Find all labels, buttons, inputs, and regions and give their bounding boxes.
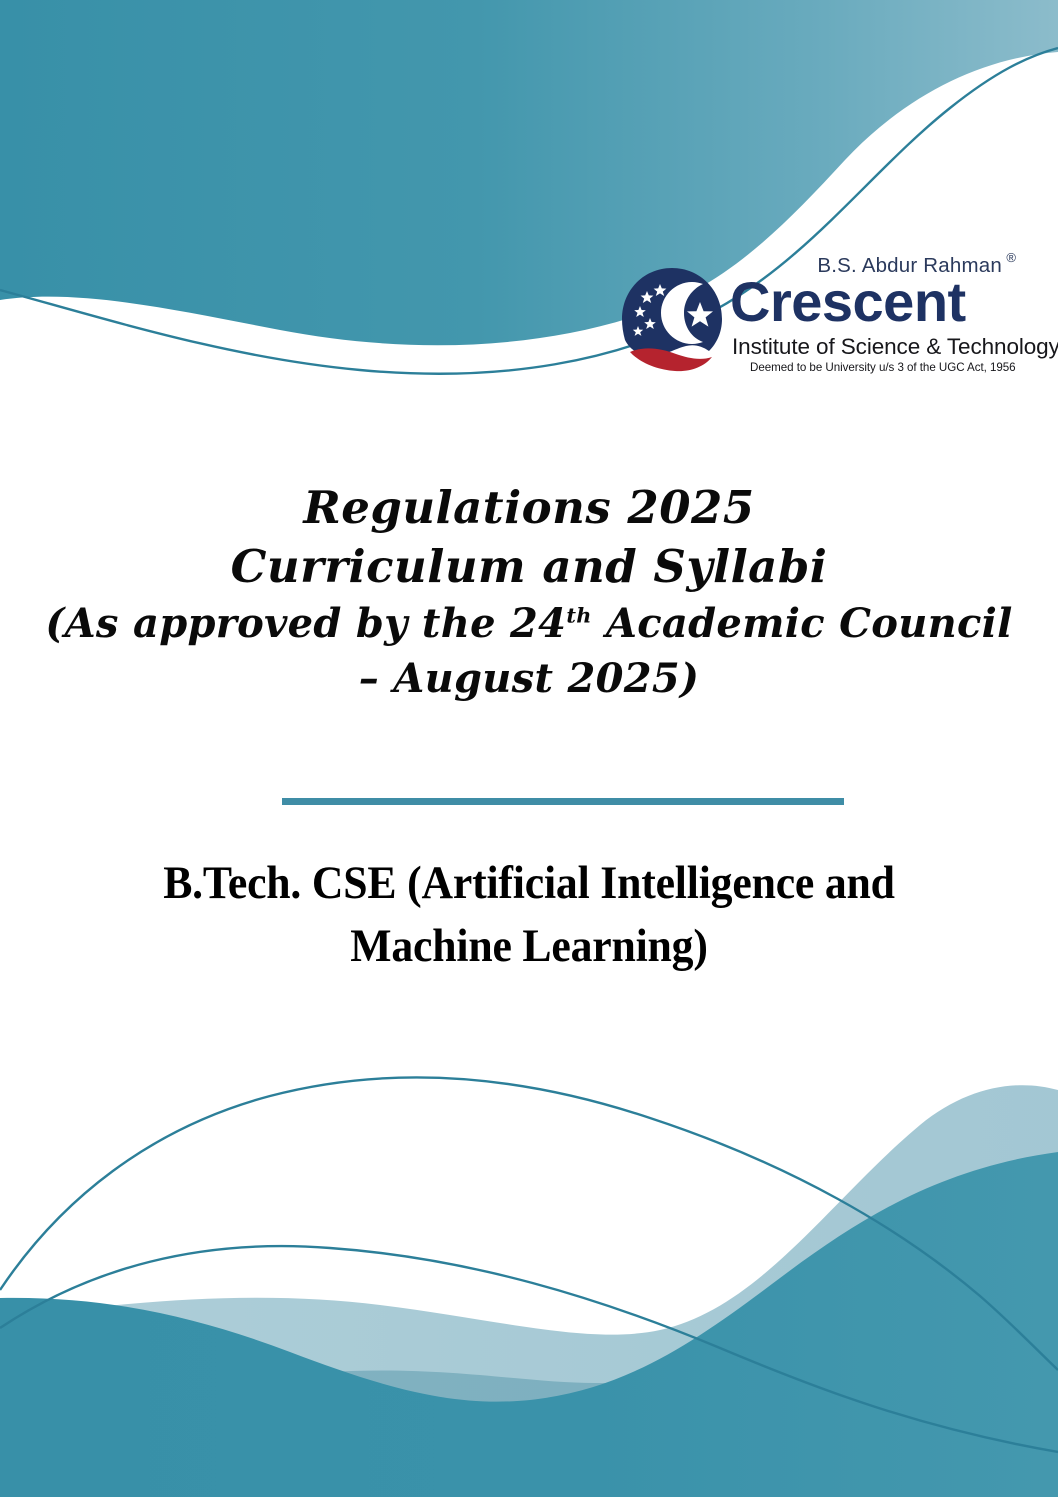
logo-sub-line: Institute of Science & Technology [732, 334, 1058, 360]
program-title-block: B.Tech. CSE (Artificial Intelligence and… [84, 852, 974, 978]
horizontal-divider [282, 798, 844, 805]
crescent-moon-and-stars-emblem [616, 264, 728, 376]
program-title-line-2: Machine Learning) [115, 915, 943, 978]
program-title-line-1: B.Tech. CSE (Artificial Intelligence and [115, 852, 943, 915]
logo-tagline: Deemed to be University u/s 3 of the UGC… [750, 361, 1016, 374]
title-line-regulations: Regulations 2025 [0, 478, 1058, 537]
bottom-wave-layer-front [0, 1152, 1058, 1497]
bottom-curve-stroke-1 [0, 1077, 1058, 1370]
bottom-wave-layer-2 [0, 1175, 1058, 1497]
approval-prefix: (As approved by the 24 [45, 600, 566, 647]
logo-wordmark-block: B.S. Abdur Rahman ® Crescent Institute o… [730, 252, 1016, 384]
document-cover-page: B.S. Abdur Rahman ® Crescent Institute o… [0, 0, 1058, 1497]
institution-logo: B.S. Abdur Rahman ® Crescent Institute o… [616, 252, 1016, 384]
top-thin-curve-decoration [0, 0, 1058, 1497]
approval-suffix: Academic Council [592, 600, 1013, 647]
bottom-waves-decoration [0, 0, 1058, 1497]
bottom-thin-curves-decoration [0, 0, 1058, 1497]
document-title-block: Regulations 2025 Curriculum and Syllabi … [0, 478, 1058, 706]
bottom-wave-lens-layer [540, 1255, 1058, 1445]
title-line-approval: (As approved by the 24th Academic Counci… [0, 596, 1058, 651]
bottom-curve-stroke-2 [0, 1246, 1058, 1452]
logo-wordmark: Crescent [730, 274, 966, 330]
top-wave-decoration [0, 0, 1058, 1497]
bottom-wave-layer-1 [0, 1085, 1058, 1497]
title-line-date: – August 2025) [0, 651, 1058, 706]
ordinal-suffix: th [566, 603, 591, 628]
registered-trademark-icon: ® [1006, 250, 1016, 265]
title-line-curriculum: Curriculum and Syllabi [0, 537, 1058, 596]
